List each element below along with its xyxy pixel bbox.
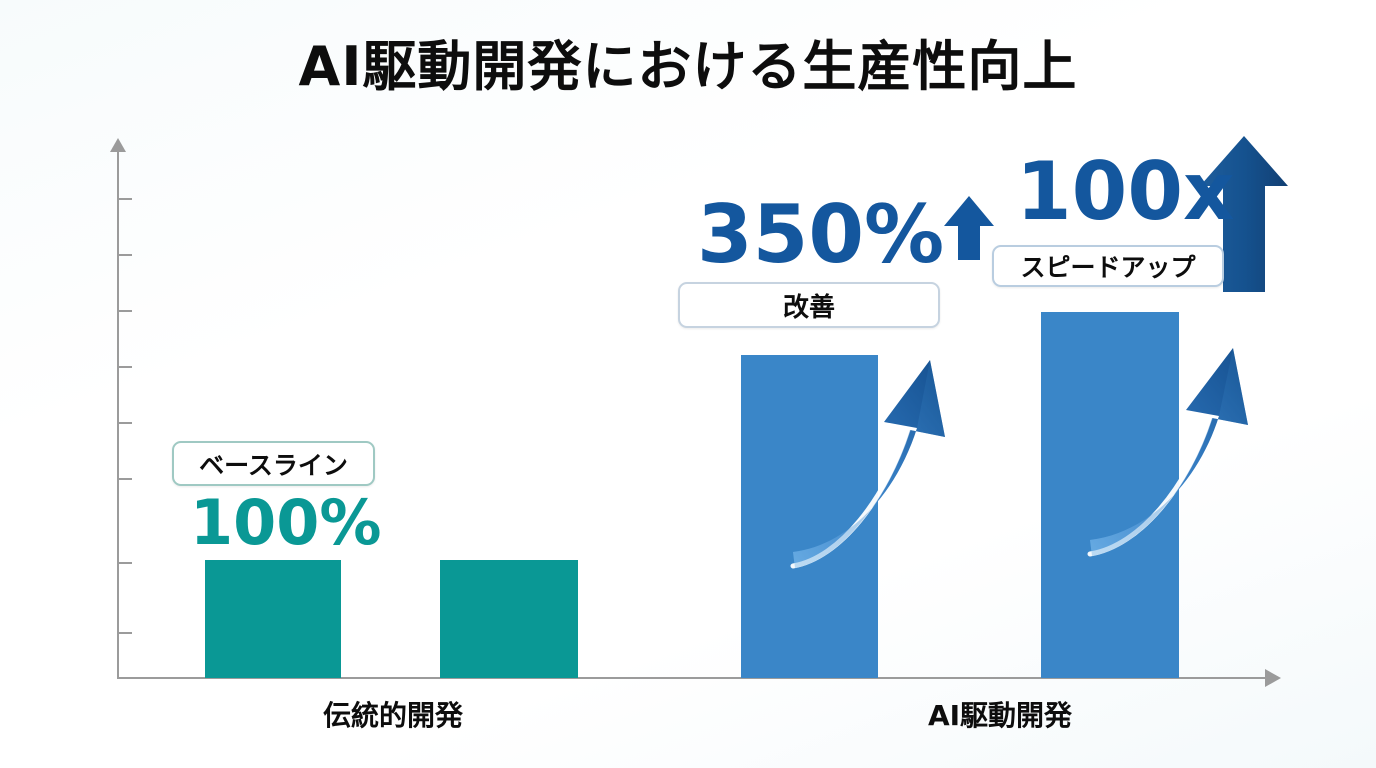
value-speed-number: 100x: [1016, 145, 1235, 238]
bar-traditional-1[interactable]: [205, 560, 341, 678]
y-axis-tick: [119, 366, 132, 368]
y-axis-tick: [119, 478, 132, 480]
y-axis-tick: [119, 632, 132, 634]
badge-improve[interactable]: 改善: [678, 282, 940, 328]
y-axis-tick: [119, 254, 132, 256]
value-baseline: 100%: [190, 492, 382, 554]
bar-ai-2[interactable]: [1041, 312, 1179, 678]
x-axis-label-ai: AI駆動開発: [860, 694, 1140, 734]
x-axis-label-traditional: 伝統的開発: [253, 694, 533, 734]
y-axis-tick: [119, 198, 132, 200]
y-axis-tick: [119, 562, 132, 564]
slide-canvas: AI駆動開発における生産性向上: [0, 0, 1376, 768]
y-axis-tick: [119, 310, 132, 312]
value-speed: 100x: [1016, 152, 1235, 232]
value-improve: 350%: [697, 192, 996, 277]
x-axis-arrow-icon: [1265, 669, 1281, 687]
badge-speed[interactable]: スピードアップ: [992, 245, 1224, 287]
value-improve-number: 350%: [697, 188, 944, 281]
badge-baseline[interactable]: ベースライン: [172, 441, 375, 486]
bar-ai-1[interactable]: [741, 355, 878, 678]
value-improve-arrow-icon: [942, 192, 996, 277]
y-axis-tick: [119, 422, 132, 424]
bar-traditional-2[interactable]: [440, 560, 578, 678]
y-axis-line: [117, 150, 119, 679]
y-axis-arrow-icon: [110, 138, 126, 152]
